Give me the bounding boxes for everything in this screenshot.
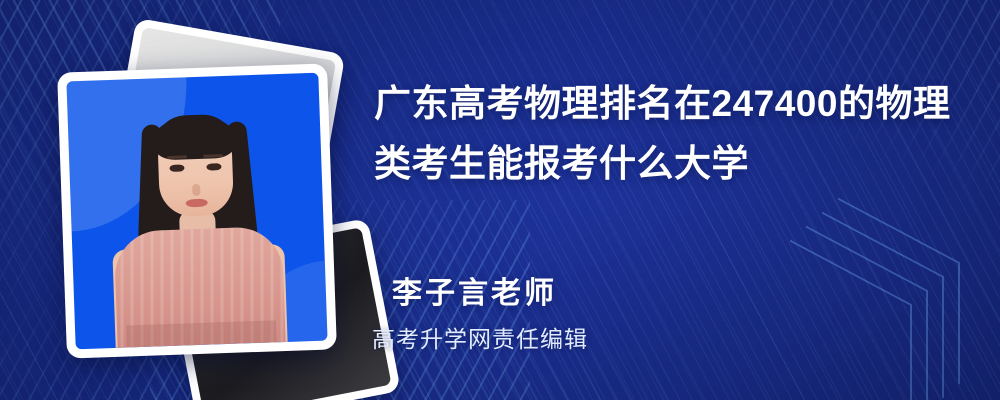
portrait-illustration: [66, 73, 327, 350]
photo-card-stack: [62, 40, 362, 370]
author-name: 李子言老师: [392, 268, 557, 312]
avatar: [66, 73, 327, 350]
article-cover-banner: 广东高考物理排名在247400的物理 类考生能报考什么大学 李子言老师 高考升学…: [0, 0, 1000, 400]
page-title-line-2: 类考生能报考什么大学: [374, 134, 970, 194]
portrait-photo-card: [57, 63, 337, 358]
portrait-nose: [192, 184, 200, 196]
author-role: 高考升学网责任编辑: [372, 320, 588, 354]
page-title: 广东高考物理排名在247400的物理 类考生能报考什么大学: [374, 74, 970, 194]
portrait-hair-front: [154, 113, 235, 160]
portrait-dress: [114, 226, 286, 348]
page-title-line-1: 广东高考物理排名在247400的物理: [374, 74, 970, 134]
portrait-dress-waist: [126, 320, 277, 347]
